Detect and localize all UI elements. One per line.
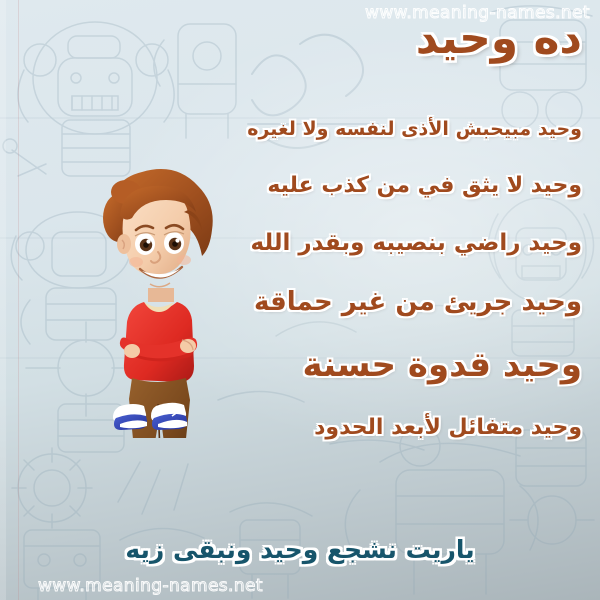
page-title: ده وحيد <box>416 16 582 62</box>
meaning-line: وحيد لا يثق في من كذب عليه <box>162 173 582 198</box>
meaning-line: وحيد مبيحبش الأذى لنفسه ولا لغيره <box>162 118 582 140</box>
footer-phrase: ياريت نشجع وحيد ونبقى زيه <box>0 535 600 564</box>
paper-ruling <box>0 0 26 600</box>
meaning-line: وحيد متفائل لأبعد الحدود <box>162 415 582 440</box>
meaning-lines-list: وحيد مبيحبش الأذى لنفسه ولا لغيره وحيد ل… <box>162 118 582 440</box>
meaning-line: وحيد جريئ من غير حماقة <box>162 287 582 317</box>
meaning-line: وحيد قدوة حسنة <box>162 345 582 385</box>
watermark-bottom: www.meaning-names.net <box>38 576 263 596</box>
meaning-line: وحيد راضي بنصيبه وبقدر الله <box>162 230 582 256</box>
name-meaning-card: www.meaning-names.net ده وحيد وحيد مبيحب… <box>0 0 600 600</box>
